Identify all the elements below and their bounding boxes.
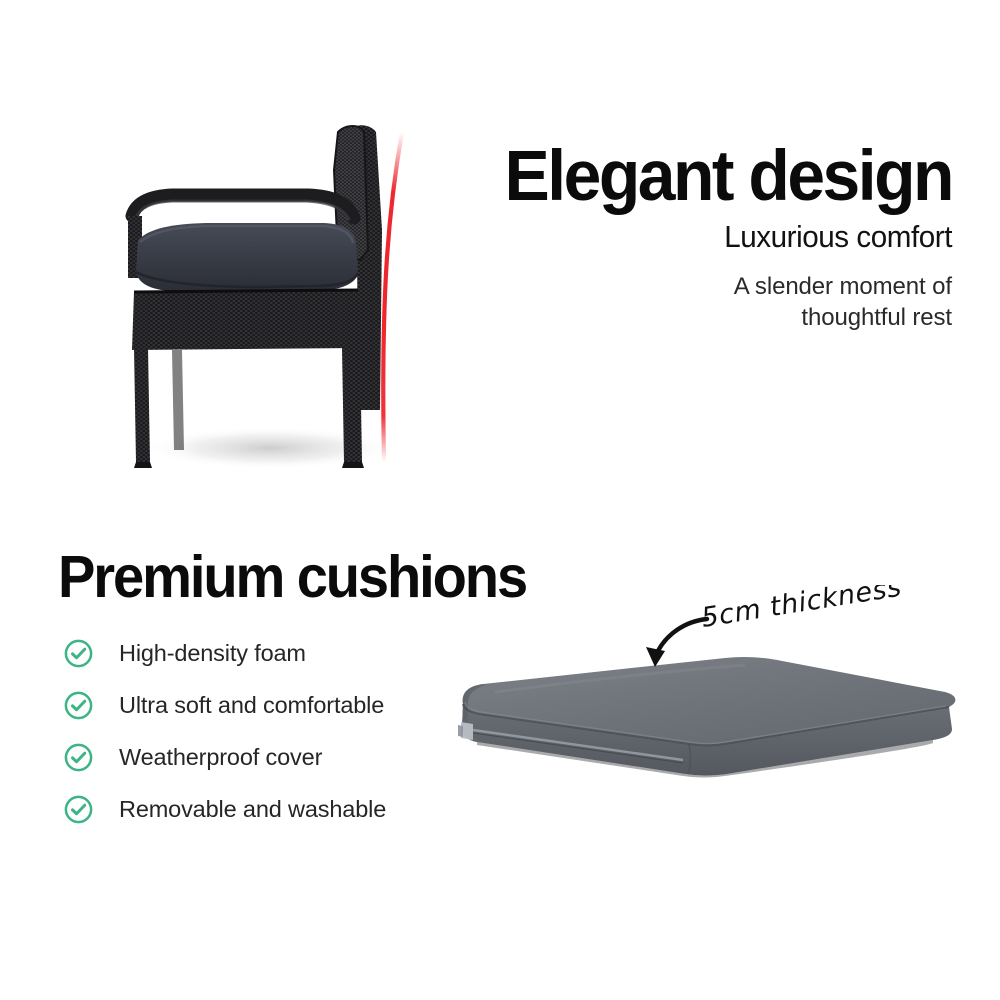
check-circle-icon — [63, 690, 94, 721]
feature-label: High-density foam — [119, 640, 306, 667]
chair-illustration — [110, 110, 450, 490]
chair-leg-rear-right — [342, 348, 362, 462]
description-line-1: A slender moment of — [734, 273, 952, 300]
feature-label: Removable and washable — [119, 796, 386, 823]
infographic-page: Elegant design Luxurious comfort A slend… — [0, 0, 1000, 1000]
chair-foot-left — [134, 462, 152, 468]
chair-apron-top-edge — [134, 290, 358, 292]
description-top-right: A slender moment of thoughtful rest — [470, 271, 952, 333]
headline-elegant-design: Elegant design — [492, 142, 952, 212]
check-circle-icon — [63, 794, 94, 825]
cushion-product-photo — [425, 588, 970, 818]
check-circle-icon — [63, 638, 94, 669]
ergonomic-accent-curve — [383, 132, 402, 462]
chair-leg-rear-left — [172, 350, 184, 450]
chair-product-photo — [110, 110, 450, 490]
cushion-illustration — [425, 588, 970, 818]
feature-label: Ultra soft and comfortable — [119, 692, 384, 719]
chair-leg-front-left — [134, 348, 150, 462]
chair-seat-apron — [132, 290, 360, 350]
elegant-design-text-block: Elegant design Luxurious comfort A slend… — [470, 142, 952, 334]
chair-armrest-highlight — [136, 201, 349, 219]
chair-foot-right — [342, 462, 364, 468]
check-circle-icon — [63, 742, 94, 773]
description-line-2: thoughtful rest — [801, 304, 952, 331]
cushion-zipper-slider — [458, 725, 463, 737]
chair-armrest — [132, 195, 354, 218]
subhead-luxurious-comfort: Luxurious comfort — [484, 221, 952, 255]
feature-label: Weatherproof cover — [119, 744, 322, 771]
